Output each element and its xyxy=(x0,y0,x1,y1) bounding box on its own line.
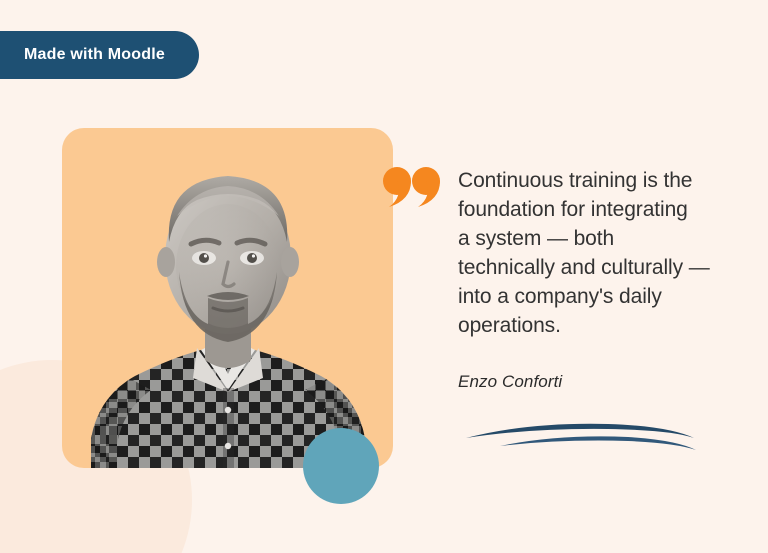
teal-accent-circle xyxy=(303,428,379,504)
quote-mark-icon xyxy=(383,166,441,212)
made-with-moodle-badge: Made with Moodle xyxy=(0,31,199,79)
portrait-photo xyxy=(73,138,383,468)
quote-text: Continuous training is the foundation fo… xyxy=(458,166,733,340)
badge-label: Made with Moodle xyxy=(24,46,165,64)
swoosh-underline-icon xyxy=(458,416,703,458)
portrait-card xyxy=(62,128,393,468)
quote-author: Enzo Conforti xyxy=(458,372,733,392)
quote-block: Continuous training is the foundation fo… xyxy=(383,166,733,458)
